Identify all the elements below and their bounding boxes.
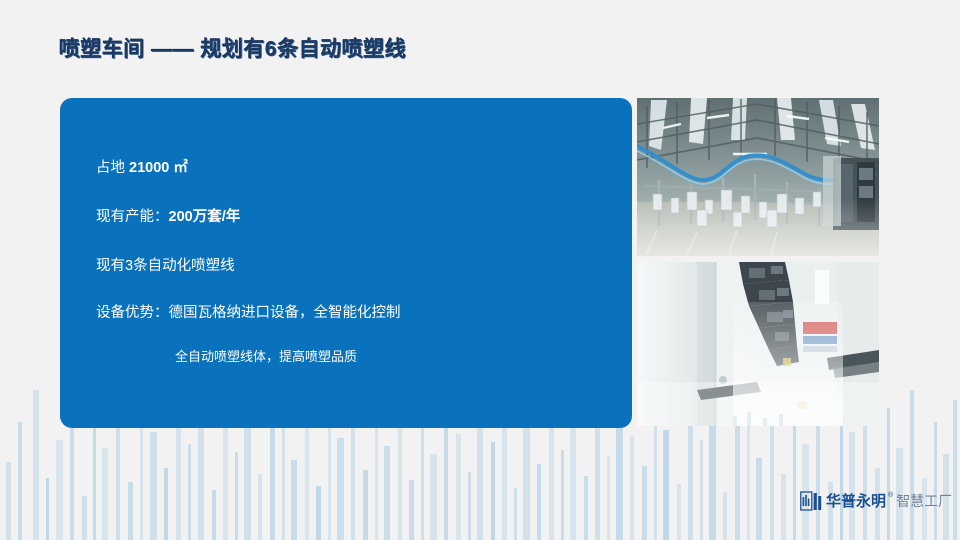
decorative-bar (468, 472, 471, 540)
decorative-bar (316, 486, 321, 540)
decorative-bar (663, 430, 669, 540)
decorative-bar (709, 418, 716, 540)
decorative-bar (910, 390, 914, 540)
decorative-bar (607, 456, 610, 540)
decorative-bar (887, 408, 890, 540)
decorative-bar (756, 458, 762, 540)
decorative-bar (102, 448, 108, 540)
decorative-bar (270, 428, 275, 540)
info-line-quality-label: 全自动喷塑线体，提高喷塑品质 (175, 349, 357, 364)
decorative-bar (82, 496, 87, 540)
decorative-bar (258, 474, 262, 540)
info-line-quality: 全自动喷塑线体，提高喷塑品质 (175, 346, 357, 365)
decorative-bar (188, 444, 191, 540)
info-line-area-value: 21000 ㎡ (129, 160, 188, 176)
decorative-bar (235, 452, 238, 540)
spray-workshop-overhead-conveyor-photo (637, 98, 879, 256)
decorative-bar (291, 460, 297, 540)
decorative-bar (351, 420, 355, 540)
decorative-bar (561, 450, 564, 540)
building-bars-icon (800, 491, 822, 511)
info-line-capacity-value: 200万套/年 (169, 209, 241, 225)
info-line-capacity-label: 现有产能： (96, 209, 169, 225)
logo-tagline: 智慧工厂 (896, 494, 952, 508)
decorative-bar (816, 412, 820, 540)
info-line-existing-lines: 现有3条自动化喷塑线 (96, 254, 235, 275)
info-line-existing-lines-label: 现有3条自动化喷塑线 (96, 258, 235, 274)
decorative-bar (781, 474, 786, 540)
decorative-bar (164, 468, 168, 540)
decorative-bar (735, 406, 740, 540)
decorative-bar (421, 410, 424, 540)
info-line-equipment-advantage: 设备优势：德国瓦格纳进口设备，全智能化控制 (96, 301, 401, 322)
decorative-bar (430, 454, 437, 540)
workshop-photo-graphic (637, 98, 879, 256)
decorative-bar (700, 440, 703, 540)
spray-booth-photo-graphic (637, 262, 879, 426)
decorative-bar (523, 424, 530, 540)
decorative-bar (223, 416, 228, 540)
logo-registered-mark: ® (888, 492, 893, 499)
decorative-bar (677, 484, 681, 540)
decorative-bar (491, 442, 495, 540)
decorative-bar (537, 464, 541, 540)
decorative-bar (150, 432, 157, 540)
decorative-bar (934, 422, 937, 540)
decorative-bar (384, 446, 390, 540)
decorative-bar (33, 390, 39, 540)
info-line-equipment-advantage-label: 设备优势：德国瓦格纳进口设备，全智能化控制 (96, 305, 401, 321)
info-line-area-label: 占地 (96, 160, 129, 176)
decorative-bar (128, 482, 133, 540)
decorative-bar (514, 488, 517, 540)
decorative-bar (595, 414, 600, 540)
decorative-bar (363, 470, 368, 540)
decorative-bar (630, 436, 634, 540)
decorative-bar (18, 422, 22, 540)
decorative-bar (46, 478, 49, 540)
decorative-bar (723, 492, 727, 540)
slide-canvas: 喷塑车间 —— 规划有6条自动喷塑线 占地 21000 ㎡ 现有产能：200万套… (0, 0, 960, 540)
decorative-bar (456, 434, 461, 540)
spray-booth-interior-photo (637, 262, 879, 426)
decorative-bar (849, 432, 855, 540)
decorative-bar (56, 440, 63, 540)
decorative-bar (6, 462, 11, 540)
decorative-bar (953, 400, 957, 540)
decorative-bar (409, 480, 414, 540)
decorative-bar (337, 438, 344, 540)
page-title: 喷塑车间 —— 规划有6条自动喷塑线 (59, 33, 406, 63)
brand-logo: 华普永明 ® 智慧工厂 (800, 490, 952, 512)
decorative-bar (584, 476, 588, 540)
decorative-bar (212, 490, 216, 540)
logo-brand-name: 华普永明 (826, 494, 886, 509)
info-line-area: 占地 21000 ㎡ (96, 156, 188, 177)
decorative-bar (642, 466, 647, 540)
info-panel: 占地 21000 ㎡ 现有产能：200万套/年 现有3条自动化喷塑线 设备优势：… (60, 98, 632, 428)
info-line-capacity: 现有产能：200万套/年 (96, 205, 240, 226)
decorative-bar (770, 426, 774, 540)
decorative-bar (116, 412, 120, 540)
